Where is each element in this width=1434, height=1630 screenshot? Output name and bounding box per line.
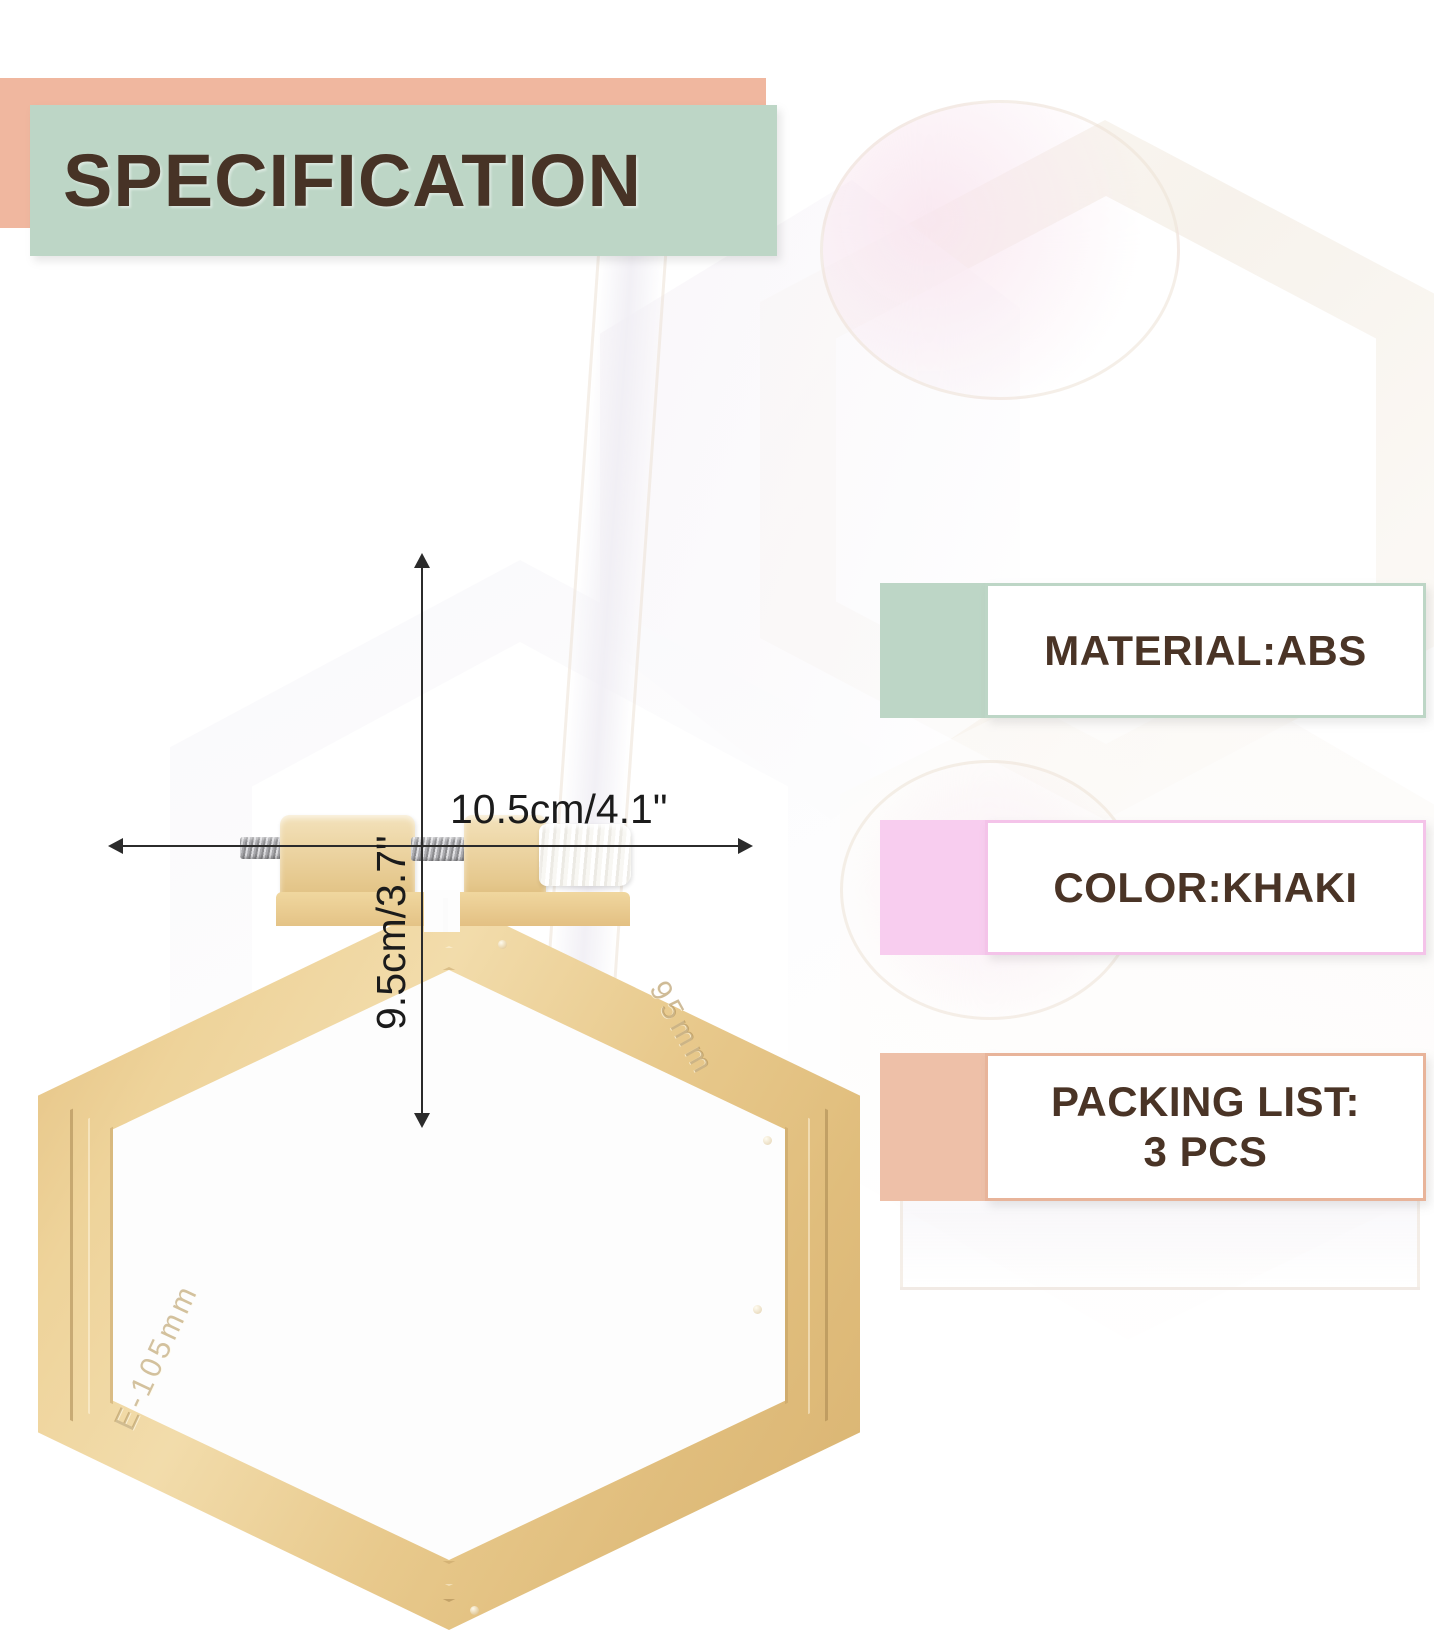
arrow-head-up-icon [414, 553, 430, 568]
product-image-hexagon-hoop: 95mm E-105mm [18, 400, 838, 1230]
spec-card-material: MATERIAL:ABS [880, 583, 1426, 718]
mold-dot [763, 1136, 772, 1145]
mold-dot [498, 940, 507, 949]
hoop-flange-gap [424, 890, 460, 932]
mold-dot [470, 1606, 479, 1615]
page-title: SPECIFICATION [30, 138, 642, 223]
spec-packing-list-line1: PACKING LIST: [1051, 1078, 1360, 1125]
arrow-head-left-icon [108, 838, 123, 854]
dimension-width-line [120, 845, 750, 847]
spec-card-packing-list: PACKING LIST: 3 PCS [880, 1053, 1426, 1201]
spec-packing-list-line2: 3 PCS [1144, 1128, 1268, 1175]
title-banner-front-layer: SPECIFICATION [30, 105, 777, 256]
spec-card-color-box: COLOR:KHAKI [985, 820, 1426, 955]
thumbscrew-knob [539, 824, 631, 886]
dimension-width-label: 10.5cm/4.1" [450, 786, 667, 833]
spec-color-text: COLOR:KHAKI [1053, 863, 1357, 913]
hoop-flange-right [460, 892, 630, 926]
spec-card-color: COLOR:KHAKI [880, 820, 1426, 955]
ghost-pink-glow-top [820, 100, 1180, 400]
spec-packing-list-text: PACKING LIST: 3 PCS [1051, 1077, 1360, 1176]
arrow-head-down-icon [414, 1113, 430, 1128]
spec-material-text: MATERIAL:ABS [1044, 626, 1367, 676]
spec-card-material-box: MATERIAL:ABS [985, 583, 1426, 718]
screw-thread-left-icon [240, 837, 282, 859]
dimension-height-line [421, 565, 423, 1125]
hoop-top-seam [443, 898, 448, 932]
dimension-height-label: 9.5cm/3.7" [368, 835, 415, 1030]
mold-dot [753, 1305, 762, 1314]
screw-thread-middle-icon [411, 837, 471, 861]
spec-card-packing-list-box: PACKING LIST: 3 PCS [985, 1053, 1426, 1201]
arrow-head-right-icon [738, 838, 753, 854]
